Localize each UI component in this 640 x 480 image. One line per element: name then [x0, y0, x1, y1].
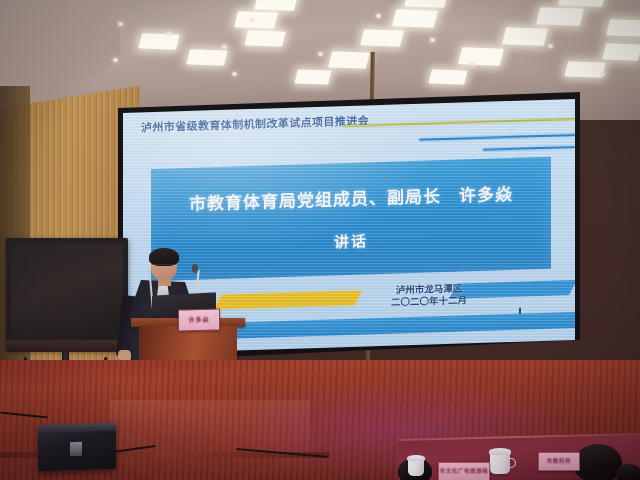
- slide-signature: 泸州市龙马潭区 二〇二〇年十二月: [359, 282, 499, 310]
- conference-photo-scene: 泸州市省级教育体制机制改革试点项目推进会 市教育体育局党组成员、副局长 许多焱 …: [0, 0, 640, 480]
- audience-head: [574, 444, 622, 480]
- audience-name-card-text: 市教科所: [539, 457, 579, 465]
- ceiling-downlight: [166, 32, 171, 36]
- ceiling-panel-light: [404, 0, 447, 8]
- teacup: [490, 452, 510, 474]
- ceiling-panel-light: [392, 9, 438, 27]
- ceiling-downlight: [222, 45, 227, 49]
- ceiling-downlight: [430, 38, 435, 42]
- display-monitor-screen: [11, 243, 123, 339]
- decor-line-yellow: [343, 118, 575, 127]
- ceiling-downlight: [250, 18, 255, 22]
- audience-head: [616, 464, 640, 480]
- audience-name-card-text: 市文化广电旅游局: [439, 467, 489, 475]
- ceiling-panel-light: [502, 27, 548, 45]
- ceiling-panel-light: [186, 49, 227, 65]
- slide-sub-title: 讲话: [151, 225, 551, 258]
- ceiling-downlight: [548, 44, 553, 48]
- ceiling-panel-light: [360, 29, 404, 46]
- decor-line-blue-upper: [419, 134, 575, 141]
- decor-yellow-parallelogram: [214, 291, 361, 310]
- ceiling-panel-light: [244, 30, 285, 46]
- ceiling-panel-light: [536, 7, 584, 26]
- audience-name-card: 市文化广电旅游局: [438, 462, 490, 480]
- slide-header-title: 泸州市省级教育体制机制改革试点项目推进会: [141, 112, 369, 135]
- ceiling-panel-light: [234, 11, 278, 28]
- slide-title-panel: 市教育体育局党组成员、副局长 许多焱 讲话: [151, 157, 551, 281]
- ceiling-panel-light: [328, 51, 370, 68]
- ceiling-panel-light: [254, 0, 298, 11]
- podium-name-plate: 许多焱: [178, 308, 220, 331]
- ceiling-panel-light: [138, 33, 179, 49]
- ceiling-downlight: [318, 52, 323, 56]
- ceiling-downlight: [376, 14, 381, 18]
- teacup-lid: [489, 448, 511, 455]
- microphone-head: [192, 264, 198, 273]
- decor-line-blue-lower: [483, 146, 575, 151]
- teacup-lid: [407, 455, 425, 461]
- ceiling-panel-light: [606, 19, 640, 36]
- speaker-glasses: [153, 264, 175, 270]
- ceiling-downlight: [113, 58, 118, 62]
- ceiling-downlight: [118, 22, 123, 26]
- podium-name-plate-text: 许多焱: [179, 314, 219, 324]
- ceiling-downlight: [232, 72, 237, 76]
- slide-main-title: 市教育体育局党组成员、副局长 许多焱: [151, 179, 551, 216]
- display-monitor-chin: [6, 340, 128, 352]
- audience-name-card: 市教科所: [538, 452, 580, 471]
- ceiling-panel-light: [294, 69, 331, 84]
- stage-monitor-badge: [70, 442, 82, 456]
